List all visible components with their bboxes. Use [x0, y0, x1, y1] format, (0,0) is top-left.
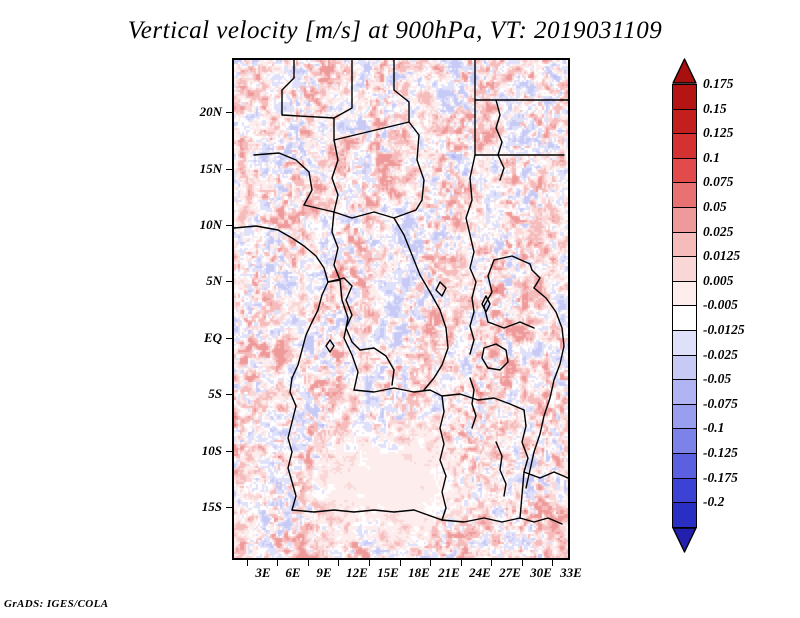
- y-tick-EQ: [226, 338, 232, 339]
- colorbar-tick-label-17: -0.2: [703, 494, 724, 510]
- colorbar-tick-label-0: 0.175: [703, 76, 733, 92]
- colorbar-arrow-bottom-icon: [672, 527, 697, 553]
- colorbar-tick-label-9: -0.005: [703, 297, 738, 313]
- colorbar-band-2: [672, 133, 697, 159]
- colorbar-band-16: [672, 478, 697, 504]
- colorbar-band-14: [672, 428, 697, 454]
- y-tick-10N: [226, 225, 232, 226]
- colorbar-arrow-top-icon: [672, 58, 697, 84]
- x-tick-21E: [430, 560, 431, 566]
- colorbar-band-6: [672, 232, 697, 258]
- colorbar[interactable]: 0.1750.150.1250.10.0750.050.0250.01250.0…: [672, 58, 792, 560]
- colorbar-band-0: [672, 84, 697, 110]
- x-axis-label-21E: 21E: [438, 565, 460, 581]
- colorbar-tick-label-6: 0.025: [703, 224, 733, 240]
- colorbar-band-17: [672, 502, 697, 528]
- y-axis-label-15N: 15N: [176, 161, 222, 177]
- colorbar-band-10: [672, 330, 697, 356]
- colorbar-tick-label-4: 0.075: [703, 174, 733, 190]
- y-axis-label-10S: 10S: [176, 443, 222, 459]
- colorbar-band-13: [672, 404, 697, 430]
- x-tick-15E: [369, 560, 370, 566]
- x-axis-label-3E: 3E: [255, 565, 270, 581]
- y-tick-5N: [226, 281, 232, 282]
- colorbar-tick-label-5: 0.05: [703, 199, 727, 215]
- colorbar-tick-label-10: -0.0125: [703, 322, 745, 338]
- colorbar-tick-label-11: -0.025: [703, 347, 738, 363]
- colorbar-band-7: [672, 256, 697, 282]
- colorbar-tick-label-8: 0.005: [703, 273, 733, 289]
- x-axis-label-12E: 12E: [346, 565, 368, 581]
- colorbar-tick-label-14: -0.1: [703, 420, 724, 436]
- colorbar-band-4: [672, 182, 697, 208]
- map-plot-area[interactable]: [232, 58, 570, 560]
- y-axis-label-EQ: EQ: [176, 330, 222, 346]
- x-axis-label-15E: 15E: [377, 565, 399, 581]
- y-axis-label-20N: 20N: [176, 104, 222, 120]
- colorbar-band-8: [672, 281, 697, 307]
- y-tick-5S: [226, 394, 232, 395]
- colorbar-tick-label-16: -0.175: [703, 470, 738, 486]
- colorbar-tick-label-7: 0.0125: [703, 248, 740, 264]
- x-axis-label-18E: 18E: [408, 565, 430, 581]
- x-axis-label-30E: 30E: [530, 565, 552, 581]
- colorbar-band-15: [672, 453, 697, 479]
- x-tick-6E: [277, 560, 278, 566]
- x-tick-9E: [308, 560, 309, 566]
- x-tick-33E: [552, 560, 553, 566]
- y-axis-label-5S: 5S: [176, 386, 222, 402]
- x-tick-24E: [461, 560, 462, 566]
- y-tick-15S: [226, 507, 232, 508]
- colorbar-tick-label-2: 0.125: [703, 125, 733, 141]
- x-axis-label-33E: 33E: [560, 565, 582, 581]
- x-axis-label-24E: 24E: [469, 565, 491, 581]
- x-tick-30E: [522, 560, 523, 566]
- colorbar-band-12: [672, 379, 697, 405]
- colorbar-band-1: [672, 109, 697, 135]
- y-tick-20N: [226, 112, 232, 113]
- y-axis-label-5N: 5N: [176, 273, 222, 289]
- colorbar-band-11: [672, 355, 697, 381]
- x-tick-12E: [338, 560, 339, 566]
- colorbar-tick-label-13: -0.075: [703, 396, 738, 412]
- y-tick-10S: [226, 451, 232, 452]
- colorbar-tick-label-12: -0.05: [703, 371, 731, 387]
- colorbar-tick-label-1: 0.15: [703, 101, 727, 117]
- colorbar-band-9: [672, 305, 697, 331]
- colorbar-band-5: [672, 207, 697, 233]
- vertical-velocity-field: [234, 60, 568, 558]
- y-tick-15N: [226, 169, 232, 170]
- y-axis-label-15S: 15S: [176, 499, 222, 515]
- colorbar-band-3: [672, 158, 697, 184]
- x-axis-label-6E: 6E: [285, 565, 300, 581]
- x-axis-label-27E: 27E: [499, 565, 521, 581]
- x-tick-3E: [247, 560, 248, 566]
- x-tick-27E: [491, 560, 492, 566]
- x-tick-18E: [400, 560, 401, 566]
- y-axis-label-10N: 10N: [176, 217, 222, 233]
- credit-text: GrADS: IGES/COLA: [4, 598, 109, 610]
- page-title: Vertical velocity [m/s] at 900hPa, VT: 2…: [0, 17, 790, 45]
- colorbar-tick-label-15: -0.125: [703, 445, 738, 461]
- colorbar-tick-label-3: 0.1: [703, 150, 720, 166]
- x-axis-label-9E: 9E: [316, 565, 331, 581]
